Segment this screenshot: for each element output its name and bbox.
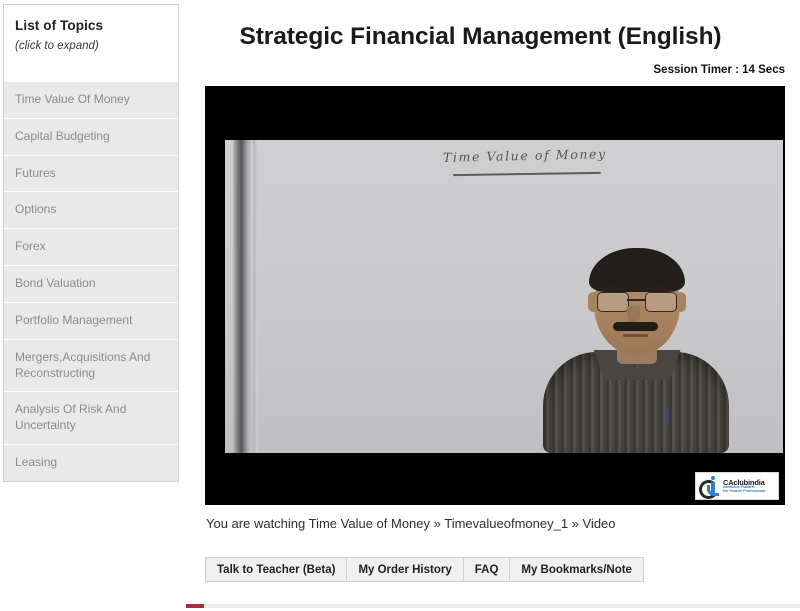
presenter-nose <box>627 306 640 322</box>
video-frame: Time Value of Money <box>225 140 783 453</box>
sidebar-title: List of Topics <box>15 18 167 33</box>
watermark-text-block: CAclubindia Interactive Platform For Fin… <box>723 479 765 494</box>
door-frame-edge <box>233 140 251 453</box>
sidebar-item-bond-valuation[interactable]: Bond Valuation <box>4 265 178 302</box>
sidebar-subtitle: (click to expand) <box>15 40 167 52</box>
topics-sidebar: List of Topics (click to expand) Time Va… <box>3 4 179 482</box>
session-timer: Session Timer : 14 Secs <box>205 51 800 76</box>
presenter-glasses-right <box>645 292 677 312</box>
video-player[interactable]: Time Value of Money <box>205 86 785 505</box>
sidebar-item-portfolio-management[interactable]: Portfolio Management <box>4 302 178 339</box>
page-load-progress-track <box>186 604 800 608</box>
sidebar-item-mergers-acquisitions[interactable]: Mergers,Acquisitions And Reconstructing <box>4 339 178 392</box>
main-content: Strategic Financial Management (English)… <box>205 0 800 611</box>
page-load-progress-fill <box>186 604 204 608</box>
sidebar-item-time-value-of-money[interactable]: Time Value Of Money <box>4 81 178 118</box>
presenter-mustache <box>613 322 658 331</box>
watermark-tagline-line2: For Finance Professionals <box>723 490 765 494</box>
presenter-glasses-bridge <box>627 299 645 301</box>
sidebar-header: List of Topics (click to expand) <box>4 5 178 81</box>
logo-i-dot <box>711 476 715 480</box>
talk-to-teacher-button[interactable]: Talk to Teacher (Beta) <box>206 558 347 581</box>
presenter-figure <box>543 248 729 453</box>
door-frame-edge-secondary <box>253 140 258 453</box>
caclubindia-watermark-logo: CAclubindia Interactive Platform For Fin… <box>695 472 779 500</box>
sidebar-item-capital-budgeting[interactable]: Capital Budgeting <box>4 118 178 155</box>
action-button-bar: Talk to Teacher (Beta) My Order History … <box>205 557 644 582</box>
presenter-mouth <box>623 334 648 337</box>
presenter-hair <box>589 248 685 292</box>
presenter-glasses-left <box>597 292 629 312</box>
sidebar-item-options[interactable]: Options <box>4 191 178 228</box>
page-title: Strategic Financial Management (English) <box>205 0 800 51</box>
breadcrumb: You are watching Time Value of Money » T… <box>206 516 616 531</box>
my-bookmarks-note-button[interactable]: My Bookmarks/Note <box>510 558 643 581</box>
my-order-history-button[interactable]: My Order History <box>347 558 463 581</box>
presenter-pocket-pen <box>665 408 668 425</box>
logo-i-stem <box>711 482 715 495</box>
sidebar-item-leasing[interactable]: Leasing <box>4 444 178 481</box>
sidebar-item-futures[interactable]: Futures <box>4 155 178 192</box>
caclubindia-logo-icon <box>699 476 721 496</box>
faq-button[interactable]: FAQ <box>464 558 511 581</box>
sidebar-item-forex[interactable]: Forex <box>4 228 178 265</box>
presenter-eyebrow-left <box>599 287 625 291</box>
sidebar-item-analysis-of-risk[interactable]: Analysis Of Risk And Uncertainty <box>4 391 178 444</box>
presenter-eyebrow-right <box>647 287 673 291</box>
